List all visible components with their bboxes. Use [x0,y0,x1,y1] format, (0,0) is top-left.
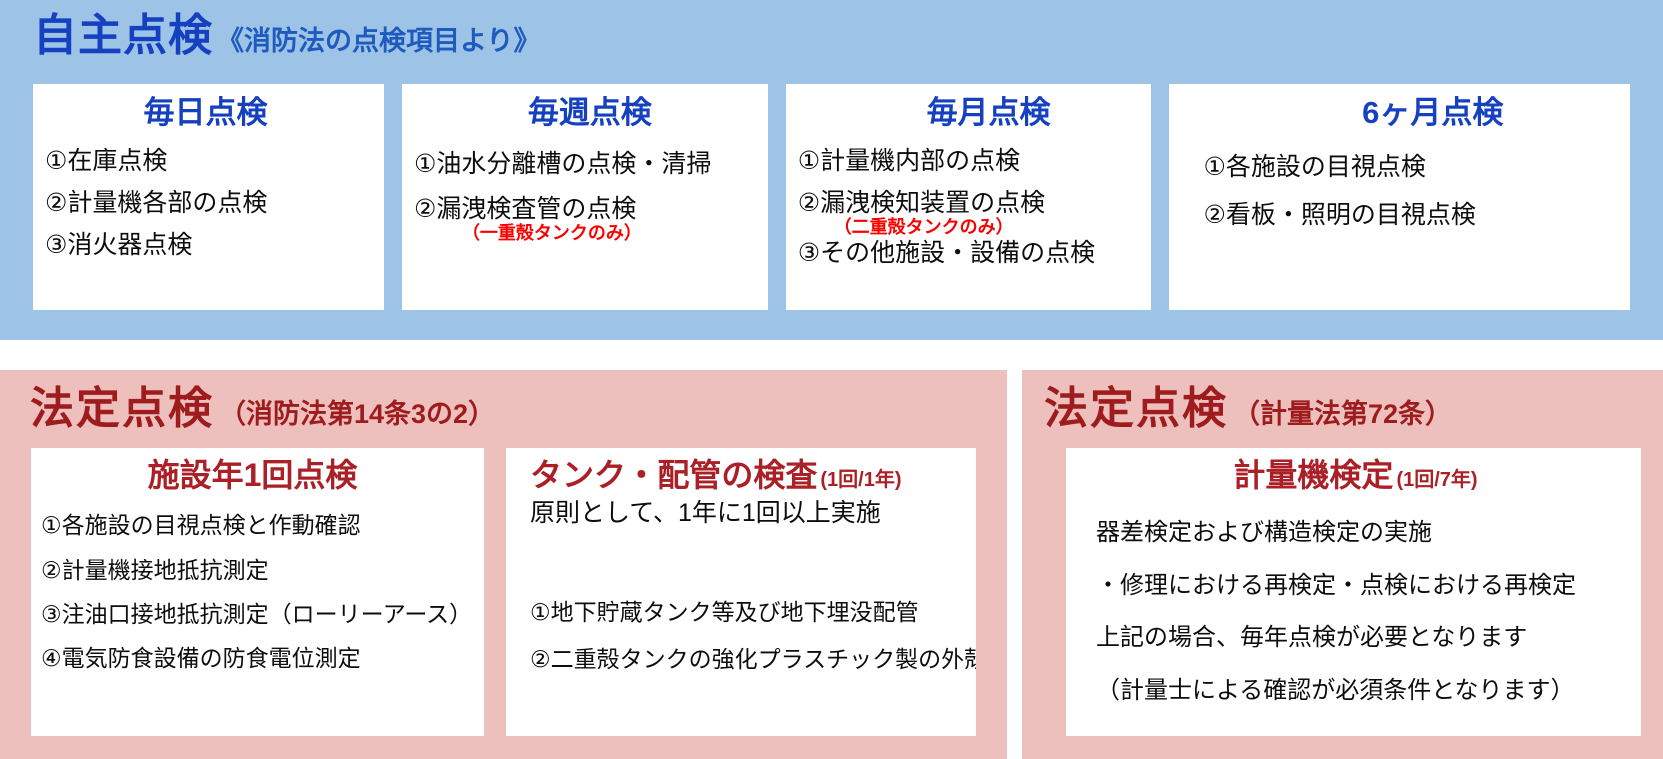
list-item: ①地下貯蔵タンク等及び地下埋没配管 [516,600,966,625]
card-title-monthly: 毎月点検 [798,94,1140,133]
voluntary-heading-main: 自主点検 [33,14,213,58]
card-title-daily: 毎日点検 [45,94,372,133]
card-annual-facility-inspection: 施設年1回点検 ①各施設の目視点検と作動確認 ②計量機接地抵抗測定 ③注油口接地… [31,448,484,736]
list-item: 器差検定および構造検定の実施 [1080,520,1627,546]
card-title-meter-verification-frequency: (1回/7年) [1396,469,1477,491]
list-item: 上記の場合、毎年点検が必要となります [1080,625,1627,651]
list-item: ①在庫点検 [45,147,372,175]
list-item: ③その他施設・設備の点検 [798,239,1140,267]
statutory-fire-heading: 法定点検 （消防法第14条3の2） [30,387,495,431]
card-six-month-inspection: 6ヶ月点検 ①各施設の目視点検 ②看板・照明の目視点検 [1169,84,1630,310]
list-item: ①各施設の目視点検 [1181,153,1618,181]
card-title-tank-pipe: タンク・配管の検査(1回/1年) [516,456,966,494]
card-title-meter-verification-text: 計量機検定 [1233,457,1393,493]
card-title-annual-facility: 施設年1回点検 [41,456,474,494]
statutory-measurement-heading-sub: （計量法第72条） [1233,401,1452,428]
list-item: ②看板・照明の目視点検 [1181,201,1618,229]
card-weekly-inspection: 毎週点検 ①油水分離槽の点検・清掃 ②漏洩検査管の点検 （一重殻タンクのみ） [402,84,768,310]
list-item: ・修理における再検定・点検における再検定 [1080,573,1627,599]
note-single-shell-tank: （一重殻タンクのみ） [414,224,756,244]
statutory-fire-section: 法定点検 （消防法第14条3の2） 施設年1回点検 ①各施設の目視点検と作動確認… [0,370,1007,759]
list-item: ②漏洩検知装置の点検 [798,189,1140,217]
list-item: ②計量機各部の点検 [45,189,372,217]
card-title-tank-pipe-frequency: (1回/1年) [820,469,901,491]
list-item: ①各施設の目視点検と作動確認 [41,513,474,538]
card-title-meter-verification: 計量機検定(1回/7年) [1080,456,1627,494]
card-meter-verification: 計量機検定(1回/7年) 器差検定および構造検定の実施 ・修理における再検定・点… [1066,448,1641,736]
card-title-tank-pipe-text: タンク・配管の検査 [530,457,817,493]
list-item: ③消火器点検 [45,231,372,259]
voluntary-inspection-section: 自主点検 《消防法の点検項目より》 毎日点検 ①在庫点検 ②計量機各部の点検 ③… [0,0,1663,340]
statutory-fire-heading-sub: （消防法第14条3の2） [219,401,495,428]
card-monthly-inspection: 毎月点検 ①計量機内部の点検 ②漏洩検知装置の点検 （二重殻タンクのみ） ③その… [786,84,1152,310]
list-item: ③注油口接地抵抗測定（ローリーアース） [41,602,474,627]
card-daily-inspection: 毎日点検 ①在庫点検 ②計量機各部の点検 ③消火器点検 [33,84,384,310]
list-item: ②計量機接地抵抗測定 [41,558,474,583]
statutory-measurement-section: 法定点検 （計量法第72条） 計量機検定(1回/7年) 器差検定および構造検定の… [1022,370,1663,759]
list-item: ④電気防食設備の防食電位測定 [41,646,474,671]
card-title-six-month: 6ヶ月点検 [1181,94,1618,133]
spacer [516,528,966,578]
list-item: ②二重殻タンクの強化プラスチック製の外殻 [516,647,966,672]
statutory-fire-card-row: 施設年1回点検 ①各施設の目視点検と作動確認 ②計量機接地抵抗測定 ③注油口接地… [31,448,976,736]
note-double-shell-tank: （二重殻タンクのみ） [798,218,1140,238]
card-title-weekly: 毎週点検 [414,94,756,133]
statutory-fire-heading-main: 法定点検 [30,387,214,431]
list-item: ①油水分離槽の点検・清掃 [414,150,756,178]
list-item: （計量士による確認が必須条件となります） [1080,678,1627,704]
statutory-measurement-heading: 法定点検 （計量法第72条） [1044,387,1452,431]
infographic-page: 自主点検 《消防法の点検項目より》 毎日点検 ①在庫点検 ②計量機各部の点検 ③… [0,0,1663,759]
tank-pipe-lead-text: 原則として、1年に1回以上実施 [516,500,966,528]
statutory-measurement-heading-main: 法定点検 [1044,387,1228,431]
list-item: ②漏洩検査管の点検 [414,195,756,223]
list-item: ①計量機内部の点検 [798,147,1140,175]
voluntary-section-heading: 自主点検 《消防法の点検項目より》 [33,14,540,58]
voluntary-heading-sub: 《消防法の点検項目より》 [217,28,540,55]
voluntary-card-row: 毎日点検 ①在庫点検 ②計量機各部の点検 ③消火器点検 毎週点検 ①油水分離槽の… [33,84,1630,310]
card-tank-pipe-inspection: タンク・配管の検査(1回/1年) 原則として、1年に1回以上実施 ①地下貯蔵タン… [506,448,976,736]
